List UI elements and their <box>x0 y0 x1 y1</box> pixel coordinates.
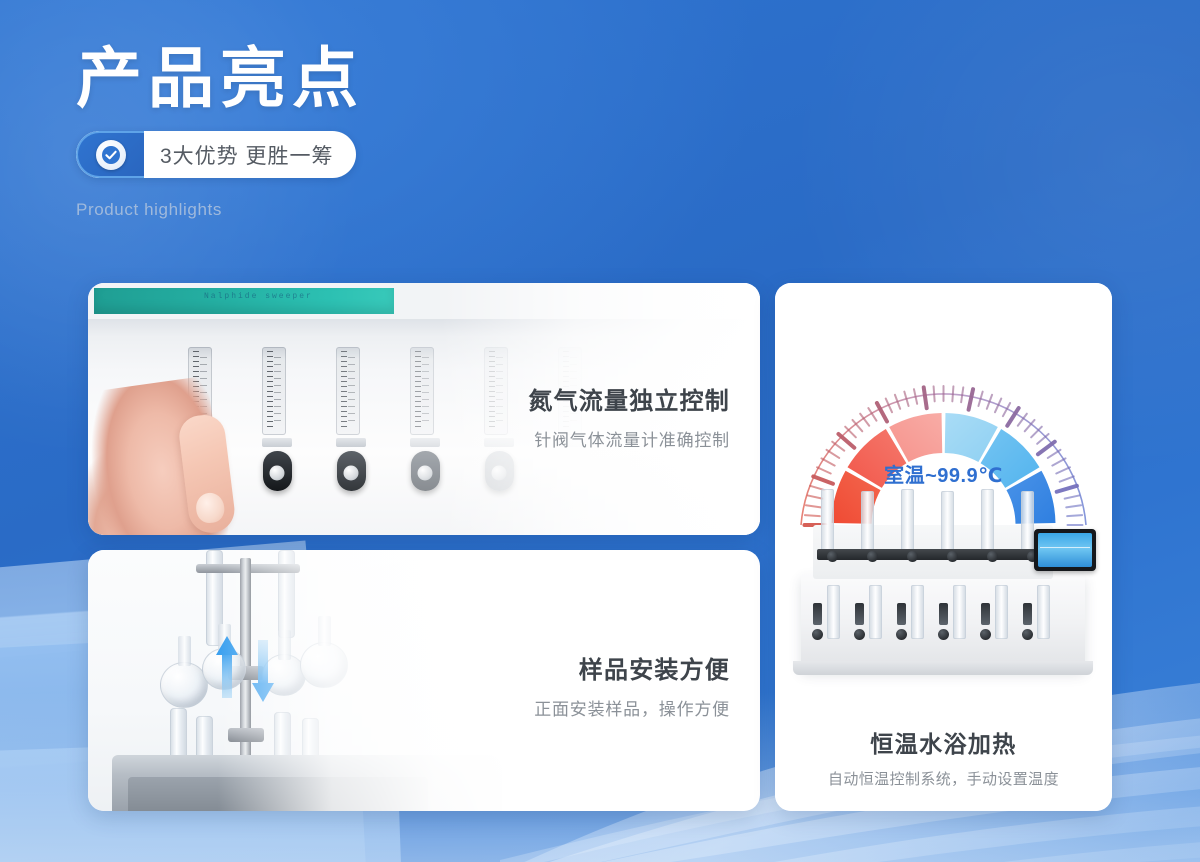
upper-column-6 <box>1021 491 1034 551</box>
upper-column-3 <box>901 489 914 551</box>
flask-column-4 <box>953 585 966 639</box>
card-water-bath-heating[interactable]: 室温~99.9℃ <box>775 283 1112 811</box>
rail-knob-5 <box>987 551 998 562</box>
front-gauge-4 <box>939 603 948 625</box>
front-gauge-1 <box>813 603 822 625</box>
card-nitrogen-flow[interactable]: Nalphide sweeper 氮气流量独立控制 针阀气体流量计准确控制 <box>88 283 760 535</box>
card-3-text: 恒温水浴加热 自动恒温控制系统，手动设置温度 <box>775 725 1112 789</box>
upper-column-5 <box>981 489 994 551</box>
page-subtitle-english: Product highlights <box>76 200 596 220</box>
card-2-text: 样品安装方便 正面安装样品，操作方便 <box>534 650 730 720</box>
flask-column-1 <box>827 585 840 639</box>
rail-knob-3 <box>907 551 918 562</box>
upper-column-4 <box>941 491 954 551</box>
strip-label: Nalphide sweeper <box>204 292 313 301</box>
card-2-title: 样品安装方便 <box>534 650 730 685</box>
front-gauge-6 <box>1023 603 1032 625</box>
front-gauge-2 <box>855 603 864 625</box>
flowmeter-4 <box>410 347 440 491</box>
machine-base <box>793 661 1093 675</box>
photo-white-fade-2 <box>218 550 518 811</box>
valve-rail <box>817 549 1049 560</box>
flask-column-5 <box>995 585 1008 639</box>
flowmeter-3 <box>336 347 366 491</box>
fingernail <box>194 491 225 524</box>
card-1-title: 氮气流量独立控制 <box>528 381 730 416</box>
flask-column-2 <box>869 585 882 639</box>
gauge-temperature-label: 室温~99.9℃ <box>775 459 1112 488</box>
screen-display <box>1038 533 1092 567</box>
badge-icon-section <box>76 131 144 178</box>
check-circle-icon <box>96 140 126 170</box>
card-1-text: 氮气流量独立控制 针阀气体流量计准确控制 <box>528 381 730 451</box>
card-1-subtitle: 针阀气体流量计准确控制 <box>528 426 730 451</box>
card-3-body: 室温~99.9℃ <box>775 283 1112 811</box>
highlight-cards: Nalphide sweeper 氮气流量独立控制 针阀气体流量计准确控制 <box>88 283 1112 811</box>
front-knob-3 <box>896 629 907 640</box>
front-gauge-5 <box>981 603 990 625</box>
rail-knob-2 <box>867 551 878 562</box>
rail-knob-4 <box>947 551 958 562</box>
distillation-unit-photo <box>783 489 1104 701</box>
teal-header-strip: Nalphide sweeper <box>94 288 394 314</box>
front-knob-2 <box>854 629 865 640</box>
front-gauge-3 <box>897 603 906 625</box>
rail-knob-1 <box>827 551 838 562</box>
control-touchscreen[interactable] <box>1034 529 1096 571</box>
flask-column-3 <box>911 585 924 639</box>
front-knob-1 <box>812 629 823 640</box>
card-3-title: 恒温水浴加热 <box>775 725 1112 759</box>
front-knob-4 <box>938 629 949 640</box>
page-header: 产品亮点 3大优势 更胜一筹 Product highlights <box>76 44 596 220</box>
flask-1 <box>160 662 208 708</box>
highlights-badge: 3大优势 更胜一筹 <box>76 131 356 178</box>
card-2-subtitle: 正面安装样品，操作方便 <box>534 695 730 720</box>
flask-neck-1 <box>178 636 191 666</box>
glassware-photo <box>88 550 518 811</box>
front-knob-6 <box>1022 629 1033 640</box>
flask-column-6 <box>1037 585 1050 639</box>
front-knob-5 <box>980 629 991 640</box>
badge-label: 3大优势 更胜一筹 <box>144 131 356 178</box>
page-title: 产品亮点 <box>76 44 596 113</box>
upper-column-1 <box>821 489 834 551</box>
upper-column-2 <box>861 491 874 551</box>
card-sample-install[interactable]: 样品安装方便 正面安装样品，操作方便 <box>88 550 760 811</box>
flowmeter-2 <box>262 347 292 491</box>
card-3-subtitle: 自动恒温控制系统，手动设置温度 <box>775 768 1112 789</box>
